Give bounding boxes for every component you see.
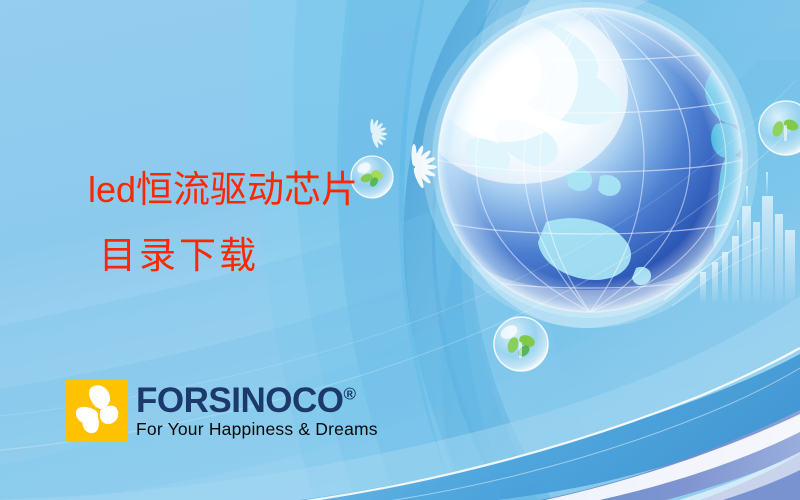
promo-banner: led恒流驱动芯片 目录下载 FORSINOCO® For Your Happi… (0, 0, 800, 500)
company-logo[interactable]: FORSINOCO® For Your Happiness & Dreams (66, 380, 378, 442)
logo-wordmark: FORSINOCO® (136, 383, 378, 418)
logo-wordmark-text: FORSINOCO (136, 381, 343, 420)
bubble-icon (351, 156, 393, 198)
bubble-icon (494, 317, 548, 371)
logo-text-block: FORSINOCO® For Your Happiness & Dreams (136, 383, 378, 439)
logo-tagline: For Your Happiness & Dreams (136, 421, 378, 439)
logo-mark-pinwheel (66, 380, 128, 442)
pinwheel-icon (66, 380, 128, 442)
registered-trademark-icon: ® (343, 385, 355, 404)
